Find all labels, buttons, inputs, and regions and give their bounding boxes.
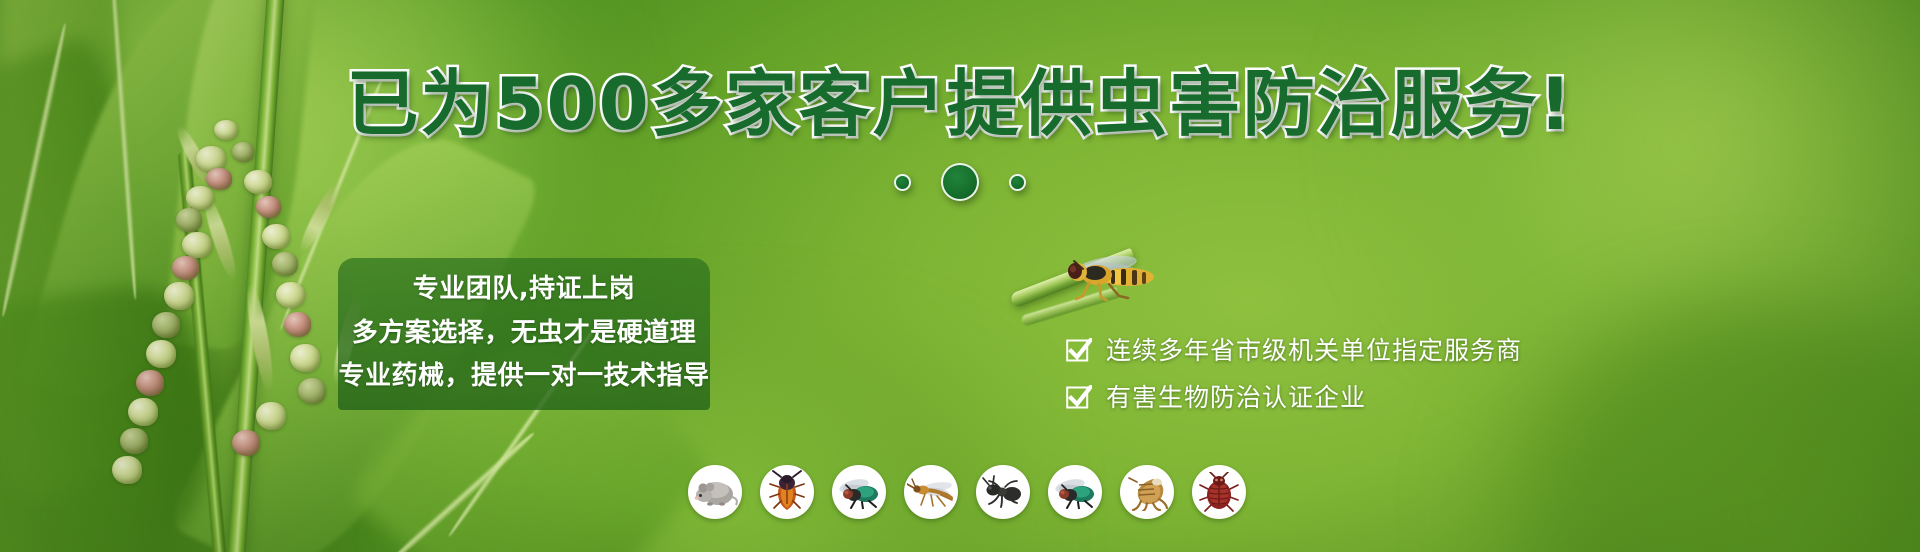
flower-bud [284, 312, 311, 337]
decorative-dot-large-center [941, 163, 979, 201]
hoverfly-icon [1049, 251, 1169, 301]
banner-headline: 已为500多家客户提供虫害防治服务! [0, 68, 1920, 140]
flower-bud [128, 398, 158, 426]
flower-bud [276, 282, 305, 308]
ant-icon [981, 473, 1025, 511]
checklist-item-label: 连续多年省市级机关单位指定服务商 [1106, 338, 1522, 363]
checklist-item-label: 有害生物防治认证企业 [1106, 385, 1366, 410]
pest-icon-mosquito[interactable] [904, 465, 958, 519]
mouse-icon [692, 475, 738, 509]
banner-headline-text: 已为500多家客户提供虫害防治服务! [346, 62, 1573, 146]
promo-banner: 已为500多家客户提供虫害防治服务! 专业团队,持证上岗 多方案选择，无虫才是硬… [0, 0, 1920, 552]
pest-icon-flea[interactable] [1120, 465, 1174, 519]
flower-bud [164, 282, 194, 310]
flower-bud [176, 208, 202, 232]
checklist-item: 连续多年省市级机关单位指定服务商 [1066, 338, 1522, 363]
feature-panel: 专业团队,持证上岗 多方案选择，无虫才是硬道理 专业药械，提供一对一技术指导 [338, 258, 710, 410]
feature-panel-line-2: 多方案选择，无虫才是硬道理 [352, 317, 697, 350]
pest-icon-row [688, 465, 1246, 519]
flower-bud [262, 224, 290, 249]
checkbox-checked-icon [1066, 338, 1092, 363]
pest-icon-bedbug[interactable] [1192, 465, 1246, 519]
flower-bud [256, 402, 286, 430]
checklist: 连续多年省市级机关单位指定服务商 有害生物防治认证企业 [1066, 338, 1522, 432]
decorative-dot-small-left [894, 174, 911, 191]
flower-bud [290, 344, 320, 372]
flower-bud [232, 430, 260, 456]
flower-bud [182, 232, 212, 258]
blowfly-icon [1051, 475, 1099, 509]
pest-icon-mouse[interactable] [688, 465, 742, 519]
feature-panel-line-3: 专业药械，提供一对一技术指导 [338, 360, 709, 393]
flower-bud [146, 340, 176, 368]
decorative-dot-row [0, 163, 1920, 201]
pest-icon-cockroach[interactable] [760, 465, 814, 519]
fly-icon [835, 475, 883, 509]
flower-bud [112, 456, 142, 484]
mosquito-icon [907, 475, 955, 509]
pest-icon-blowfly[interactable] [1048, 465, 1102, 519]
flower-bud [120, 428, 148, 454]
decorative-dot-small-right [1009, 174, 1026, 191]
cockroach-icon [767, 470, 807, 514]
flower-bud [136, 370, 164, 396]
pest-icon-fly[interactable] [832, 465, 886, 519]
flea-icon [1125, 473, 1169, 511]
checkbox-checked-icon [1066, 385, 1092, 410]
flower-bud [232, 142, 254, 162]
flower-bud [172, 256, 199, 280]
bedbug-icon [1198, 472, 1240, 512]
pest-icon-ant[interactable] [976, 465, 1030, 519]
flower-bud [272, 252, 298, 276]
flower-bud [152, 312, 180, 338]
flower-bud [298, 378, 326, 404]
feature-panel-line-1: 专业团队,持证上岗 [413, 273, 635, 306]
checklist-item: 有害生物防治认证企业 [1066, 385, 1522, 410]
